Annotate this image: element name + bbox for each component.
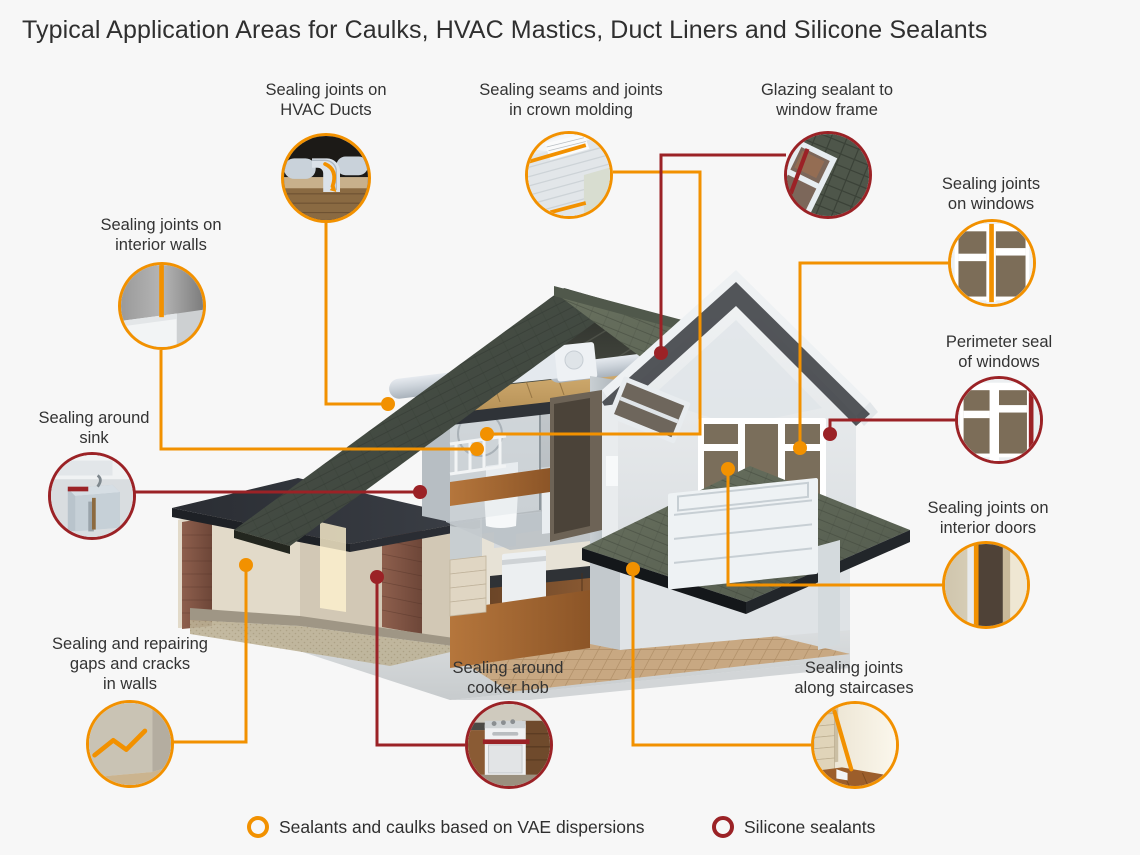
callout-label-crown-molding: Sealing seams and joints in crown moldin… [455, 80, 687, 120]
window-photo [951, 222, 1033, 304]
callout-label-interior-doors: Sealing joints on interior doors [898, 498, 1078, 538]
legend: Sealants and caulks based on VAE dispers… [0, 806, 1140, 850]
callout-label-staircases: Sealing joints along staircases [764, 658, 944, 698]
callout-label-gaps-cracks: Sealing and repairing gaps and cracks in… [39, 634, 221, 694]
callout-thumb-cooker-hob[interactable] [465, 701, 553, 789]
callout-thumb-glazing-sealant[interactable] [784, 131, 872, 219]
orange-ring-icon [247, 816, 269, 838]
callout-thumb-interior-doors[interactable] [942, 541, 1030, 629]
cutaway-house-render [150, 230, 910, 700]
callout-thumb-windows-joints[interactable] [948, 219, 1036, 307]
crown-molding-photo [528, 134, 610, 216]
callout-thumb-gaps-cracks[interactable] [86, 700, 174, 788]
callout-thumb-perimeter-windows[interactable] [955, 376, 1043, 464]
skylight-photo [787, 134, 869, 216]
page-title: Typical Application Areas for Caulks, HV… [22, 16, 987, 45]
sink-photo [51, 455, 133, 537]
hvac-duct-photo [284, 136, 368, 220]
callout-thumb-staircases[interactable] [811, 701, 899, 789]
callout-label-windows-joints: Sealing joints on windows [902, 174, 1080, 214]
window-perimeter-photo [958, 379, 1040, 461]
legend-label-vae: Sealants and caulks based on VAE dispers… [279, 817, 644, 838]
legend-label-silicone: Silicone sealants [744, 817, 875, 838]
interior-wall-photo [121, 265, 203, 347]
callout-thumb-hvac-ducts[interactable] [281, 133, 371, 223]
cooker-hob-photo [468, 704, 550, 786]
callout-thumb-interior-walls[interactable] [118, 262, 206, 350]
callout-thumb-crown-molding[interactable] [525, 131, 613, 219]
legend-item-silicone: Silicone sealants [712, 816, 875, 838]
callout-label-cooker-hob: Sealing around cooker hob [418, 658, 598, 698]
infographic-canvas: Typical Application Areas for Caulks, HV… [0, 0, 1140, 855]
door-photo [945, 544, 1027, 626]
callout-thumb-around-sink[interactable] [48, 452, 136, 540]
callout-label-glazing-sealant: Glazing sealant to window frame [737, 80, 917, 120]
callout-label-interior-walls: Sealing joints on interior walls [71, 215, 251, 255]
callout-label-around-sink: Sealing around sink [4, 408, 184, 448]
red-ring-icon [712, 816, 734, 838]
legend-item-vae: Sealants and caulks based on VAE dispers… [247, 816, 644, 838]
callout-label-perimeter-windows: Perimeter seal of windows [910, 332, 1088, 372]
wall-crack-photo [89, 703, 171, 785]
staircase-photo [814, 704, 896, 786]
callout-label-hvac-ducts: Sealing joints on HVAC Ducts [236, 80, 416, 120]
